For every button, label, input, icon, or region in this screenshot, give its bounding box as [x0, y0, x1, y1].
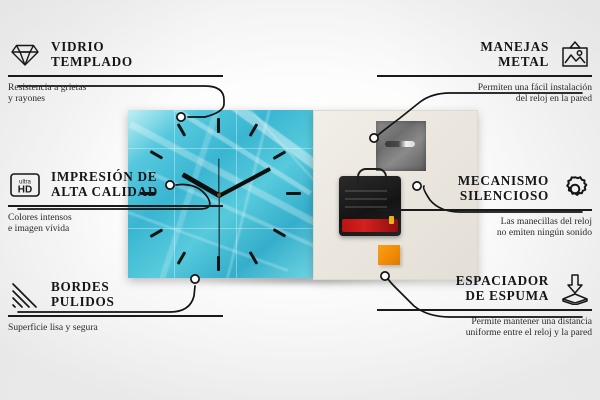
- polished-edge-icon: [8, 278, 42, 312]
- diamond-icon: [8, 38, 42, 72]
- divider: [377, 309, 592, 311]
- feature-description: Colores intensos e imagen vívida: [8, 212, 223, 235]
- gear-icon: [558, 172, 592, 206]
- feature-title-line2: PULIDOS: [51, 295, 115, 310]
- foam-spacer-icon: [558, 272, 592, 306]
- foam-spacer-piece: [378, 245, 400, 265]
- feature-title-line2: ALTA CALIDAD: [51, 185, 158, 200]
- ultra-hd-icon: ultra HD: [8, 168, 42, 202]
- feature-header: VIDRIO TEMPLADO: [8, 38, 223, 72]
- divider: [377, 209, 592, 211]
- desc-line2: no emiten ningún sonido: [377, 227, 592, 239]
- feature-mecanismo-silencioso: MECANISMO SILENCIOSO Las manecillas del …: [377, 172, 592, 239]
- feature-description: Permiten una fácil instalación del reloj…: [377, 82, 592, 105]
- feature-title-line2: TEMPLADO: [51, 55, 133, 70]
- feature-title-line1: IMPRESIÓN DE: [51, 170, 158, 185]
- svg-text:HD: HD: [18, 185, 32, 196]
- desc-line1: Permite mantener una distancia: [377, 316, 592, 328]
- feature-header: MECANISMO SILENCIOSO: [377, 172, 592, 206]
- metal-hanger-plate: [376, 121, 426, 171]
- desc-line2: del reloj en la pared: [377, 93, 592, 105]
- desc-line2: y rayones: [8, 93, 223, 105]
- feature-title-line2: METAL: [480, 55, 549, 70]
- divider: [8, 315, 223, 317]
- feature-title-line1: BORDES: [51, 280, 115, 295]
- desc-line2: e imagen vívida: [8, 223, 223, 235]
- feature-title-line1: MECANISMO: [458, 174, 549, 189]
- feature-title-line1: VIDRIO: [51, 40, 133, 55]
- feature-header: ESPACIADOR DE ESPUMA: [377, 272, 592, 306]
- hanger-slot: [385, 141, 415, 147]
- feature-manejas-metal: MANEJAS METAL Permiten una fácil instala…: [377, 38, 592, 105]
- desc-line1: Permiten una fácil instalación: [377, 82, 592, 94]
- feature-title-line2: DE ESPUMA: [456, 289, 549, 304]
- feature-espaciador-espuma: ESPACIADOR DE ESPUMA Permite mantener un…: [377, 272, 592, 339]
- feature-title-line2: SILENCIOSO: [458, 189, 549, 204]
- divider: [377, 75, 592, 77]
- desc-line1: Resistencia a grietas: [8, 82, 223, 94]
- desc-line1: Superficie lisa y segura: [8, 322, 223, 334]
- infographic-canvas: VIDRIO TEMPLADO Resistencia a grietas y …: [0, 0, 600, 400]
- feature-description: Superficie lisa y segura: [8, 322, 223, 334]
- feature-description: Las manecillas del reloj no emiten ningú…: [377, 216, 592, 239]
- feature-title-line1: MANEJAS: [480, 40, 549, 55]
- desc-line1: Colores intensos: [8, 212, 223, 224]
- framed-picture-icon: [558, 38, 592, 72]
- feature-header: ultra HD IMPRESIÓN DE ALTA CALIDAD: [8, 168, 223, 202]
- feature-header: MANEJAS METAL: [377, 38, 592, 72]
- feature-description: Permite mantener una distancia uniforme …: [377, 316, 592, 339]
- feature-bordes-pulidos: BORDES PULIDOS Superficie lisa y segura: [8, 278, 223, 333]
- desc-line1: Las manecillas del reloj: [377, 216, 592, 228]
- divider: [8, 205, 223, 207]
- feature-title-line1: ESPACIADOR: [456, 274, 549, 289]
- feature-header: BORDES PULIDOS: [8, 278, 223, 312]
- desc-line2: uniforme entre el reloj y la pared: [377, 327, 592, 339]
- feature-impresion-alta-calidad: ultra HD IMPRESIÓN DE ALTA CALIDAD Color…: [8, 168, 223, 235]
- divider: [8, 75, 223, 77]
- feature-description: Resistencia a grietas y rayones: [8, 82, 223, 105]
- feature-vidrio-templado: VIDRIO TEMPLADO Resistencia a grietas y …: [8, 38, 223, 105]
